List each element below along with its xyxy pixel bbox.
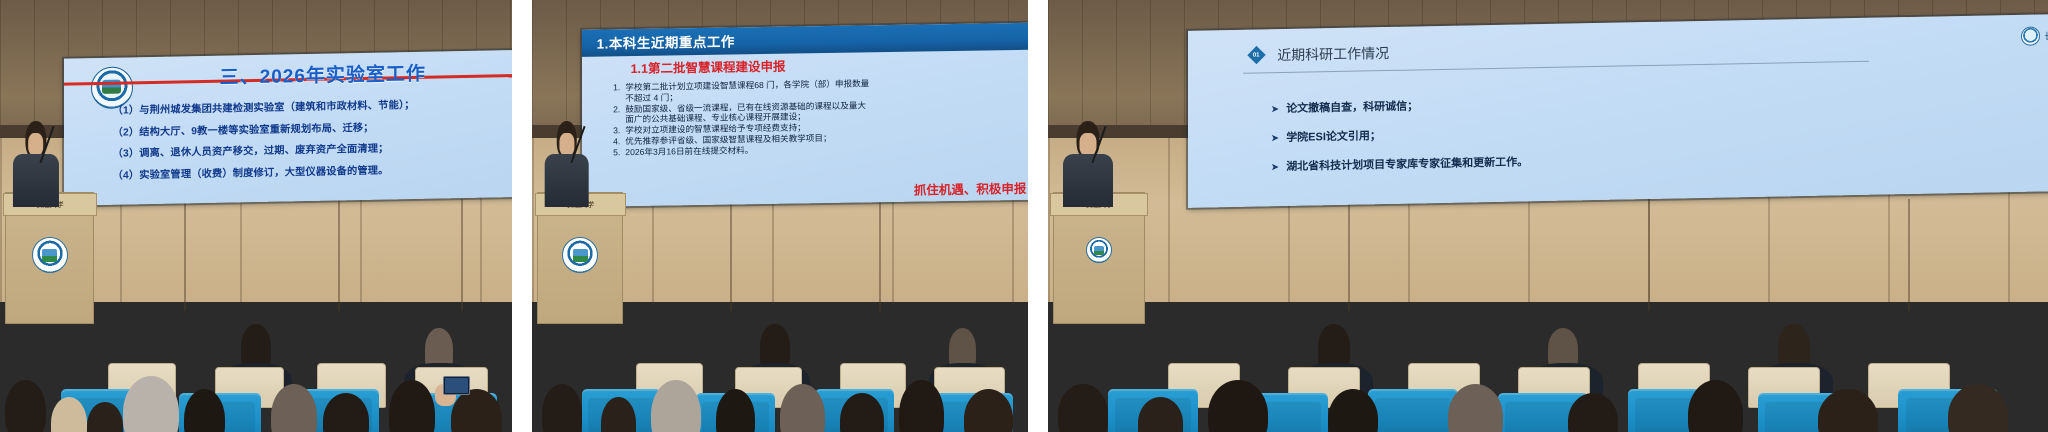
arrow-bullet-icon: ➤ [1271, 133, 1279, 144]
podium-university-logo-icon [32, 237, 68, 273]
podium: 长江大学 [1053, 192, 1145, 324]
audience-head [1058, 384, 1108, 432]
university-seal-icon [2021, 26, 2040, 45]
arrow-bullet-icon: ➤ [1271, 162, 1279, 173]
wall-seam [879, 199, 881, 311]
auditorium-chair [1368, 389, 1458, 432]
podium: 长江大学 [5, 192, 94, 324]
speaker-torso [544, 154, 589, 208]
wall-seam [730, 199, 732, 311]
photo-panel-3: 01 近期科研工作情况 长江大学 ➤ 论文撤稿自查，科研诚信； [1048, 0, 2048, 432]
university-mark: 长江大学 [2021, 26, 2048, 46]
list-number: 4. [606, 136, 620, 147]
list-number: 1. [606, 82, 620, 103]
wall-seam [461, 199, 463, 311]
list-number: 2. [606, 104, 620, 125]
list-number: 5. [606, 147, 620, 158]
slide-header-text: 1.本科生近期重点工作 [596, 31, 734, 53]
speaker-face [559, 133, 574, 155]
slide-numbered-list: 1. 学校第二批计划立项建设智慧课程68 门，各学院（部）申报数量 不超过 4 … [606, 75, 1028, 158]
audience-head [1688, 380, 1743, 432]
slide-bullet: （2）结构大厅、9教一楼等实验室重新规划布局、迁移； [113, 115, 512, 138]
slide-title: 近期科研工作情况 [1277, 43, 1389, 65]
slide-bullet-text: 学院ESI论文引用； [1286, 127, 1381, 145]
slide-bullet-text: 论文撤稿自查，科研诚信； [1286, 97, 1418, 116]
audience-head [1208, 380, 1268, 432]
slide-bullet: ➤ 湖北省科技计划项目专家库专家征集和更新工作。 [1271, 142, 2048, 174]
slide-title: 三、2026年实验室工作 [220, 59, 426, 90]
photo-panel-2: 1.本科生近期重点工作 1.1第二批智慧课程建设申报 1. 学校第二批计划立项建… [532, 0, 1028, 432]
speaker-person [13, 121, 59, 207]
list-text: 2026年3月16日前在线提交材料。 [625, 145, 753, 157]
speaker-face [28, 133, 44, 155]
section-number: 01 [1243, 47, 1269, 62]
smartphone [443, 376, 471, 395]
slide-slogan: 抓住机遇、积极申报！ [914, 177, 1029, 198]
meeting-room-2: 1.本科生近期重点工作 1.1第二批智慧课程建设申报 1. 学校第二批计划立项建… [532, 0, 1028, 432]
slide-bullet: ➤ 学院ESI论文引用； [1271, 113, 2048, 145]
photo-strip: 三、2026年实验室工作 （1）与荆州城发集团共建检测实验室（建筑和市政材料、节… [0, 0, 2048, 432]
list-text: 鼓励国家级、省级一流课程，已有在线资源基础的课程以及量大 面广的公共基础课程、专… [625, 100, 866, 125]
wall-seam [1648, 199, 1650, 311]
list-text: 学校第二批计划立项建设智慧课程68 门，各学院（部）申报数量 不超过 4 门； [625, 78, 869, 103]
meeting-room-3: 01 近期科研工作情况 长江大学 ➤ 论文撤稿自查，科研诚信； [1048, 0, 2048, 432]
slide-bullet: ➤ 论文撤稿自查，科研诚信； [1271, 84, 2048, 116]
audience-head [1448, 384, 1503, 432]
wall-seam [338, 199, 340, 311]
slide-bullet: （3）调离、退休人员资产移交，过期、废弃资产全面清理； [113, 137, 512, 160]
slide-bullet: （4）实验室管理（收费）制度修订，大型仪器设备的管理。 [113, 158, 512, 181]
photo-panel-1: 三、2026年实验室工作 （1）与荆州城发集团共建检测实验室（建筑和市政材料、节… [0, 0, 512, 432]
university-name: 长江大学 [2044, 29, 2048, 43]
arrow-bullet-icon: ➤ [1271, 104, 1279, 115]
projection-screen-2: 1.本科生近期重点工作 1.1第二批智慧课程建设申报 1. 学校第二批计划立项建… [582, 22, 1028, 207]
meeting-room-1: 三、2026年实验室工作 （1）与荆州城发集团共建检测实验室（建筑和市政材料、节… [0, 0, 512, 432]
slide-subheader: 1.1第二批智慧课程建设申报 [630, 56, 785, 77]
speaker-torso [13, 154, 59, 208]
projection-screen-3: 01 近期科研工作情况 长江大学 ➤ 论文撤稿自查，科研诚信； [1188, 13, 2048, 208]
wall-seam [1348, 199, 1350, 311]
podium-university-logo-icon [562, 237, 598, 273]
wall-seam [1908, 199, 1910, 311]
speaker-person [1063, 121, 1113, 207]
podium-university-logo-icon [1086, 237, 1112, 263]
section-number-diamond-icon: 01 [1243, 47, 1269, 62]
wall-seam [184, 199, 186, 311]
slide-bullet-text: 湖北省科技计划项目专家库专家征集和更新工作。 [1286, 153, 1528, 174]
slide-title-row: 01 近期科研工作情况 [1243, 29, 2048, 65]
slide-bullet: （1）与荆州城发集团共建检测实验室（建筑和市政材料、节能）； [113, 94, 512, 117]
list-number: 3. [606, 125, 620, 136]
podium: 长江大学 [537, 192, 623, 324]
speaker-torso [1063, 154, 1113, 208]
projection-screen-1: 三、2026年实验室工作 （1）与荆州城发集团共建检测实验室（建筑和市政材料、节… [64, 49, 512, 205]
audience-head [542, 384, 582, 432]
audience-head [5, 380, 46, 432]
slide-bullet-list: （1）与荆州城发集团共建检测实验室（建筑和市政材料、节能）； （2）结构大厅、9… [113, 94, 512, 188]
audience-head [1948, 384, 2008, 432]
slide-bullet-list: ➤ 论文撤稿自查，科研诚信； ➤ 学院ESI论文引用； ➤ 湖北省科技计划项目专… [1271, 84, 2048, 187]
